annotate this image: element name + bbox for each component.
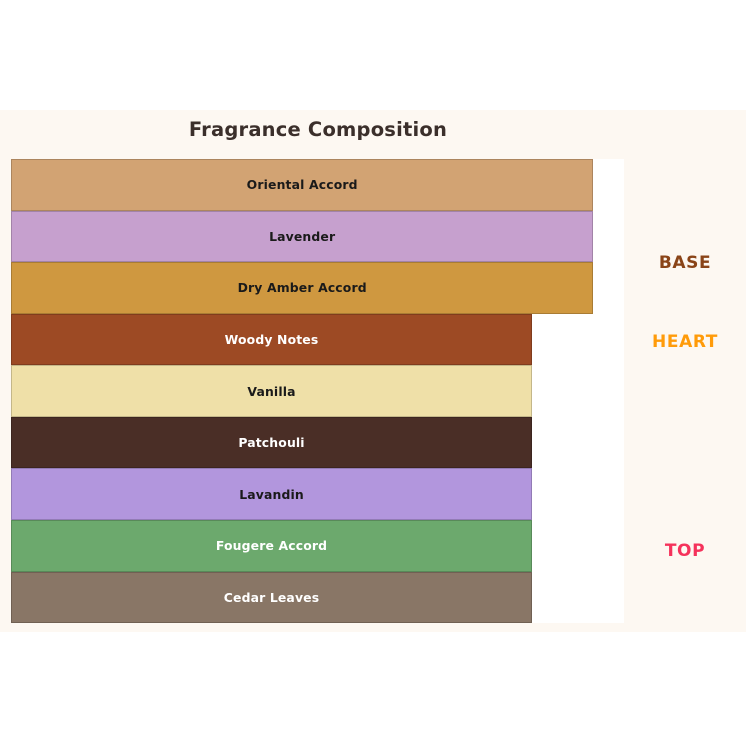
- bar-segment[interactable]: Woody Notes: [11, 314, 532, 366]
- bar-segment[interactable]: Dry Amber Accord: [11, 262, 593, 314]
- bar-label: Oriental Accord: [247, 177, 358, 192]
- bar-row: Dry Amber Accord: [11, 262, 624, 314]
- bar-row: Patchouli: [11, 417, 624, 469]
- bar-segment[interactable]: Lavender: [11, 211, 593, 263]
- chart-figure: Fragrance Composition Oriental AccordLav…: [0, 110, 746, 632]
- tier-annotation-group: BASEHEARTTOP: [624, 159, 746, 623]
- bar-segment[interactable]: Vanilla: [11, 365, 532, 417]
- bar-label: Woody Notes: [225, 332, 319, 347]
- bar-row: Lavender: [11, 211, 624, 263]
- chart-title: Fragrance Composition: [0, 118, 636, 141]
- bar-label: Patchouli: [238, 435, 304, 450]
- bar-row: Lavandin: [11, 468, 624, 520]
- bar-segment[interactable]: Cedar Leaves: [11, 572, 532, 624]
- bar-label: Dry Amber Accord: [238, 280, 367, 295]
- bar-segment[interactable]: Patchouli: [11, 417, 532, 469]
- bar-row: Oriental Accord: [11, 159, 624, 211]
- bar-row: Woody Notes: [11, 314, 624, 366]
- bar-segment[interactable]: Lavandin: [11, 468, 532, 520]
- bar-label: Vanilla: [247, 384, 295, 399]
- plot-area: Oriental AccordLavenderDry Amber AccordW…: [11, 159, 624, 623]
- tier-label-heart: HEART: [624, 332, 746, 352]
- tier-label-top: TOP: [624, 541, 746, 561]
- bar-label: Cedar Leaves: [224, 590, 319, 605]
- bar-row: Vanilla: [11, 365, 624, 417]
- bar-label: Lavandin: [239, 487, 304, 502]
- bar-stack: Oriental AccordLavenderDry Amber AccordW…: [11, 159, 624, 623]
- bar-row: Fougere Accord: [11, 520, 624, 572]
- bar-segment[interactable]: Fougere Accord: [11, 520, 532, 572]
- bar-label: Fougere Accord: [216, 538, 327, 553]
- bar-label: Lavender: [269, 229, 335, 244]
- bar-row: Cedar Leaves: [11, 572, 624, 624]
- tier-label-base: BASE: [624, 253, 746, 273]
- bar-segment[interactable]: Oriental Accord: [11, 159, 593, 211]
